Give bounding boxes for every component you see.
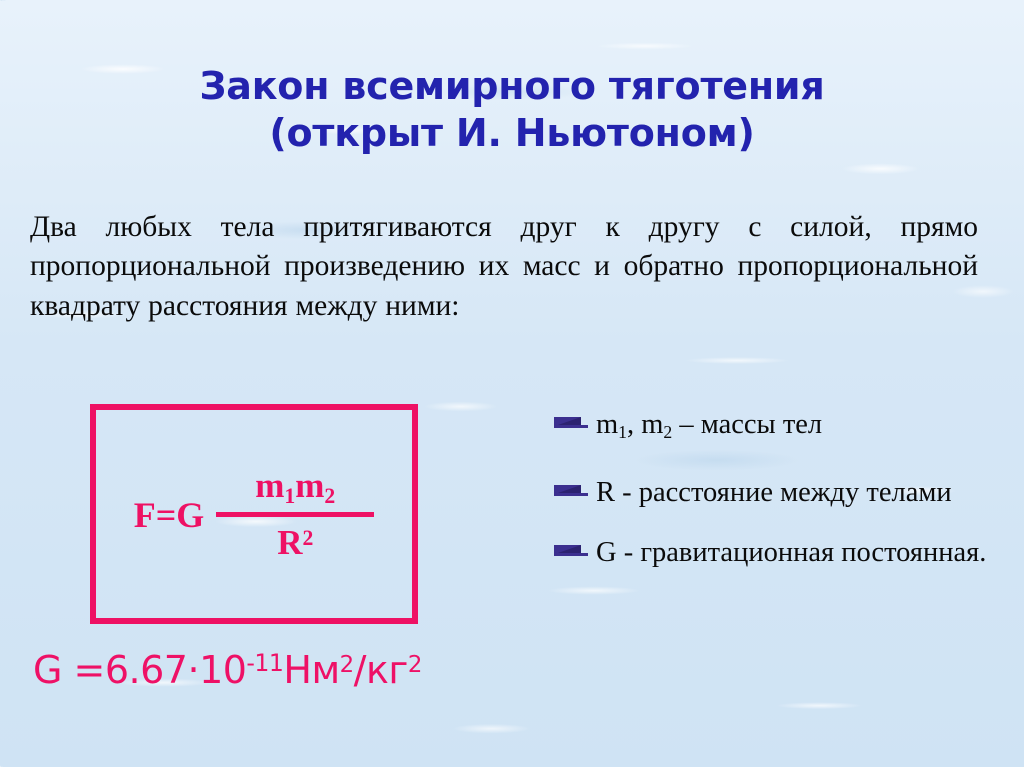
- gconst-units-superscript-1: 2: [340, 652, 354, 678]
- numerator-m1-base: m: [255, 466, 284, 505]
- gravitational-constant-value: G =6.67·10-11Нм2/кг2: [33, 651, 422, 689]
- title-line-2: (открыт И. Ньютоном): [0, 110, 1024, 157]
- masses-description: – массы тел: [672, 409, 822, 440]
- numerator-m1-subscript: 1: [284, 484, 295, 508]
- gconst-units-base: Нм: [283, 648, 339, 692]
- slide-canvas: Закон всемирного тяготения (открыт И. Нь…: [0, 0, 1024, 767]
- list-item-masses: m1, m2 – массы тел: [550, 405, 1012, 452]
- formula-box: F=G m1m2 R2: [90, 404, 418, 624]
- masses-m1-subscript: 1: [618, 422, 627, 442]
- formula-lhs: F=G: [134, 497, 205, 533]
- masses-separator: ,: [627, 409, 641, 440]
- formula-fraction: m1m2 R2: [216, 468, 374, 561]
- gconst-units-divider: /кг: [354, 648, 408, 692]
- law-statement-paragraph: Два любых тела притягиваются друг к друг…: [30, 208, 978, 327]
- formula-numerator: m1m2: [245, 468, 345, 513]
- denominator-superscript: 2: [302, 526, 313, 550]
- constant-description: G - гравитационная постоянная.: [596, 537, 986, 568]
- formula-denominator: R2: [277, 517, 313, 560]
- flag-bullet-icon: [554, 545, 588, 560]
- masses-m2-base: m: [641, 409, 663, 440]
- flag-bullet-icon: [554, 417, 588, 432]
- numerator-m2-base: m: [295, 466, 324, 505]
- masses-m1-base: m: [596, 409, 618, 440]
- gconst-exponent: -11: [246, 649, 283, 677]
- legend-list: m1, m2 – массы тел R - расстояние между …: [550, 405, 1012, 572]
- flag-bullet-icon: [554, 485, 588, 500]
- page-title: Закон всемирного тяготения (открыт И. Нь…: [0, 63, 1024, 157]
- masses-m2-subscript: 2: [663, 422, 672, 442]
- gconst-units-superscript-2: 2: [408, 652, 422, 678]
- list-item-distance: R - расстояние между телами: [550, 473, 1012, 512]
- title-line-1: Закон всемирного тяготения: [0, 63, 1024, 110]
- distance-description: R - расстояние между телами: [596, 477, 952, 508]
- denominator-base: R: [277, 523, 302, 562]
- gconst-multiplier: ·10: [187, 648, 246, 692]
- gconst-label: G =6.67: [33, 648, 187, 692]
- numerator-m2-subscript: 2: [324, 484, 335, 508]
- gravitation-formula: F=G m1m2 R2: [96, 410, 412, 618]
- list-item-constant: G - гравитационная постоянная.: [550, 533, 1012, 572]
